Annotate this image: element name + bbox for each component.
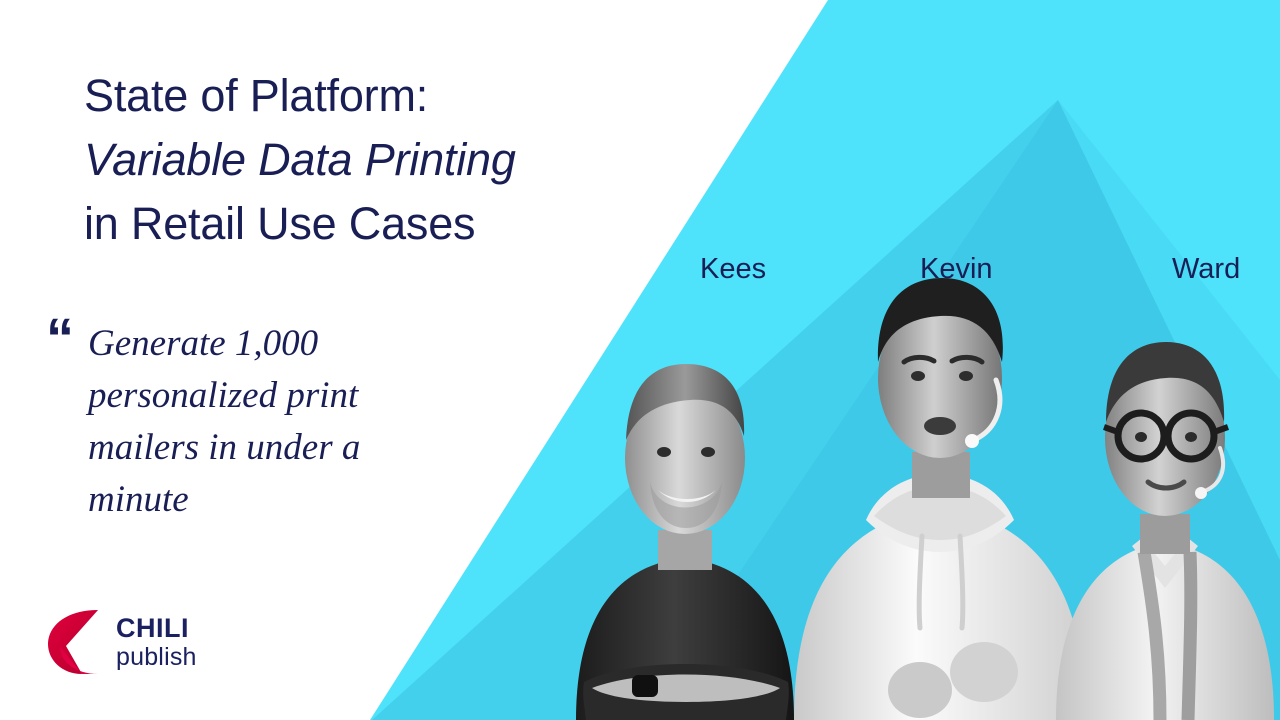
chili-pepper-mark-icon: [46, 608, 102, 676]
chili-publish-logo[interactable]: CHILI publish: [46, 608, 197, 676]
speaker-name-kees: Kees: [700, 253, 766, 286]
quote-line-3: mailers in under a: [88, 422, 476, 474]
logo-sub-text: publish: [116, 645, 197, 670]
quote-line-4: minute: [88, 474, 476, 526]
logo-brand-text: CHILI: [116, 615, 197, 642]
speaker-name-kevin: Kevin: [920, 253, 993, 286]
page-title: State of Platform: Variable Data Printin…: [84, 64, 704, 256]
quote-open-icon: “: [46, 318, 74, 358]
quote-line-2: personalized print: [88, 370, 476, 422]
headline-line-2: Variable Data Printing: [84, 128, 704, 192]
quote-text: Generate 1,000 personalized print mailer…: [88, 318, 476, 526]
headline-line-1: State of Platform:: [84, 64, 704, 128]
webinar-title-slide: State of Platform: Variable Data Printin…: [0, 0, 1280, 720]
headline-line-3: in Retail Use Cases: [84, 192, 704, 256]
quote-line-1: Generate 1,000: [88, 318, 476, 370]
pull-quote: “ Generate 1,000 personalized print mail…: [46, 318, 476, 526]
speaker-name-ward: Ward: [1172, 253, 1240, 286]
logo-wordmark: CHILI publish: [116, 615, 197, 670]
